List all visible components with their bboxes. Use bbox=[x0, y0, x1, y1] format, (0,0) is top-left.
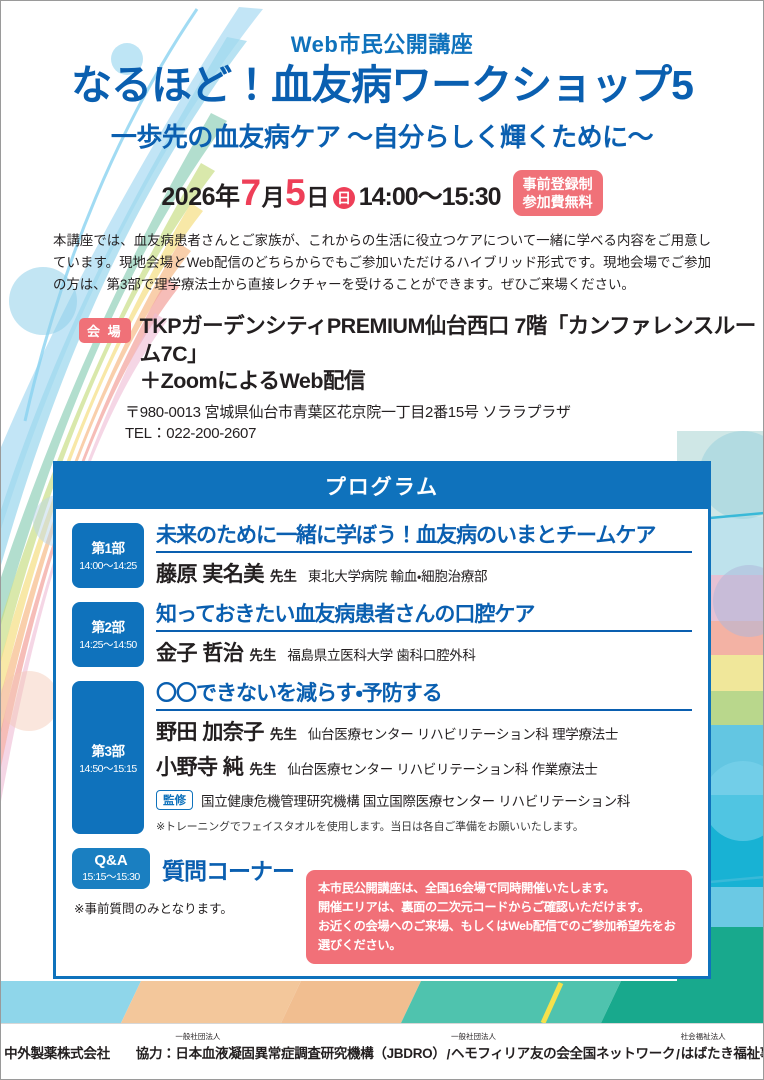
speaker-honorific: 先生 bbox=[249, 644, 276, 664]
session-content: 〇〇できないを減らす・予防する 野田 加奈子 先生 仙台医療センター リハビリテ… bbox=[156, 681, 692, 834]
session-time: 14:00～14:25 bbox=[79, 558, 137, 573]
flyer-header: Web市民公開講座 なるほど！血友病ワークショップ5 一歩先の血友病ケア ～自分… bbox=[1, 1, 763, 154]
speaker-honorific: 先生 bbox=[270, 565, 297, 585]
session-time: 14:50～15:15 bbox=[79, 761, 137, 776]
registration-badge-line1: 事前登録制 bbox=[523, 175, 593, 193]
venue-headline: 会 場 TKPガーデンシティPREMIUM仙台西口 7階「カンファレンスルーム7… bbox=[79, 313, 763, 396]
qa-time: 15:15～15:30 bbox=[72, 869, 150, 884]
notice-line-3: お近くの会場へのご来場、もしくはWeb配信でのご参加希望先をお選びください。 bbox=[318, 917, 680, 955]
session-content: 知っておきたい血友病患者さんの口腔ケア 金子 哲治 先生 福島県立医科大学 歯科… bbox=[156, 602, 692, 667]
qa-badge: Q&A 15:15～15:30 bbox=[72, 848, 150, 889]
program-panel: プログラム 第1部 14:00～14:25 未来のために一緒に学ぼう！血友病のい… bbox=[53, 461, 711, 979]
speaker-honorific: 先生 bbox=[249, 758, 276, 778]
qa-title: 質問コーナー bbox=[162, 852, 294, 886]
session-content: 未来のために一緒に学ぼう！血友病のいまとチームケア 藤原 実名美 先生 東北大学… bbox=[156, 523, 692, 588]
host-organization: 主催：中外製薬株式会社 bbox=[0, 1042, 110, 1062]
speaker-row: 野田 加奈子 先生 仙台医療センター リハビリテーション科 理学療法士 bbox=[156, 716, 692, 746]
venue-telephone: TEL：022-200-2607 bbox=[125, 423, 763, 444]
session-title: 〇〇できないを減らす・予防する bbox=[156, 681, 692, 711]
session-badge: 第3部 14:50～15:15 bbox=[72, 681, 144, 834]
speaker-name: 小野寺 純 bbox=[156, 751, 243, 781]
event-time: 14:00～15:30 bbox=[359, 177, 501, 213]
supervisor-organization: 国立健康危機管理研究機構 国立国際医療センター リハビリテーション科 bbox=[201, 790, 630, 810]
speaker-affiliation: 仙台医療センター リハビリテーション科 作業療法士 bbox=[287, 758, 597, 778]
venue-name-line2: ＋ZoomによるWeb配信 bbox=[140, 369, 365, 393]
date-year: 2026年 bbox=[161, 177, 239, 213]
session-part-label: 第3部 bbox=[91, 740, 124, 760]
flyer-page: Web市民公開講座 なるほど！血友病ワークショップ5 一歩先の血友病ケア ～自分… bbox=[0, 0, 764, 1080]
registration-badge: 事前登録制 参加費無料 bbox=[513, 170, 603, 216]
program-session: 第1部 14:00～14:25 未来のために一緒に学ぼう！血友病のいまとチームケ… bbox=[72, 523, 692, 588]
speaker-row: 小野寺 純 先生 仙台医療センター リハビリテーション科 作業療法士 bbox=[156, 751, 692, 781]
session-title: 未来のために一緒に学ぼう！血友病のいまとチームケア bbox=[156, 523, 692, 553]
session-part-label: 第2部 bbox=[91, 616, 124, 636]
date-day-number: 5 bbox=[284, 174, 306, 211]
program-body: 第1部 14:00～14:25 未来のために一緒に学ぼう！血友病のいまとチームケ… bbox=[56, 509, 708, 976]
speaker-row: 藤原 実名美 先生 東北大学病院 輸血・細胞治療部 bbox=[156, 558, 692, 588]
qa-note: ※事前質問のみとなります。 bbox=[74, 898, 294, 917]
speaker-affiliation: 福島県立医科大学 歯科口腔外科 bbox=[287, 644, 475, 664]
supervisor-badge: 監修 bbox=[156, 790, 193, 810]
session-badge: 第2部 14:25～14:50 bbox=[72, 602, 144, 667]
intro-paragraph: 本講座では、血友病患者さんとご家族が、これからの生活に役立つケアについて一緒に学… bbox=[53, 230, 711, 295]
org-name: ヘモフィリア友の会全国ネットワーク bbox=[451, 1046, 675, 1061]
page-title: なるほど！血友病ワークショップ5 bbox=[1, 63, 763, 109]
cooperating-org: 一般社団法人 ヘモフィリア友の会全国ネットワーク bbox=[451, 1042, 675, 1062]
qa-headline: Q&A 15:15～15:30 質問コーナー bbox=[72, 848, 294, 889]
program-session: 第2部 14:25～14:50 知っておきたい血友病患者さんの口腔ケア 金子 哲… bbox=[72, 602, 692, 667]
venue-address: 〒980-0013 宮城県仙台市青葉区花京院一丁目2番15号 ソララプラザ bbox=[125, 402, 763, 423]
org-type-ruby: 一般社団法人 bbox=[451, 1031, 496, 1042]
event-datetime: 2026年 7 月 5 日 日 14:00～15:30 bbox=[161, 174, 500, 213]
speaker-name: 野田 加奈子 bbox=[156, 716, 264, 746]
speaker-affiliation: 仙台医療センター リハビリテーション科 理学療法士 bbox=[308, 723, 618, 743]
notice-line-2: 開催エリアは、裏面の二次元コードからご確認いただけます。 bbox=[318, 898, 680, 917]
day-of-week-badge: 日 bbox=[333, 187, 355, 209]
speaker-name: 藤原 実名美 bbox=[156, 558, 264, 588]
session-part-label: 第1部 bbox=[91, 537, 124, 557]
speaker-affiliation: 東北大学病院 輸血・細胞治療部 bbox=[308, 565, 487, 585]
speaker-row: 金子 哲治 先生 福島県立医科大学 歯科口腔外科 bbox=[156, 637, 692, 667]
cooperation-label: 協力： bbox=[136, 1042, 176, 1062]
nationwide-notice: 本市民公開講座は、全国16会場で同時開催いたします。 開催エリアは、裏面の二次元… bbox=[306, 870, 692, 964]
page-subtitle: 一歩先の血友病ケア ～自分らしく輝くために～ bbox=[1, 117, 763, 154]
venue-block: 会 場 TKPガーデンシティPREMIUM仙台西口 7階「カンファレンスルーム7… bbox=[79, 313, 763, 444]
venue-name-line1: TKPガーデンシティPREMIUM仙台西口 7階「カンファレンスルーム7C」 bbox=[140, 314, 756, 366]
qa-section: Q&A 15:15～15:30 質問コーナー ※事前質問のみとなります。 本市民… bbox=[72, 848, 692, 964]
session-note: ※トレーニングでフェイスタオルを使用します。当日は各自ご準備をお願いいたします。 bbox=[156, 818, 692, 834]
session-title: 知っておきたい血友病患者さんの口腔ケア bbox=[156, 602, 692, 632]
event-date-row: 2026年 7 月 5 日 日 14:00～15:30 事前登録制 参加費無料 bbox=[1, 170, 763, 216]
org-type-ruby: 一般社団法人 bbox=[175, 1031, 220, 1042]
qa-badge-label: Q&A bbox=[72, 852, 150, 869]
kicker-text: Web市民公開講座 bbox=[1, 27, 763, 59]
registration-badge-line2: 参加費無料 bbox=[523, 193, 593, 211]
date-month-unit: 月 bbox=[262, 178, 285, 212]
cooperating-org: 社会福祉法人 はばたき福祉事業団 bbox=[681, 1042, 764, 1062]
supervisor-row: 監修 国立健康危機管理研究機構 国立国際医療センター リハビリテーション科 bbox=[156, 790, 692, 810]
program-heading: プログラム bbox=[56, 464, 708, 509]
flyer-footer: 主催：中外製薬株式会社 協力： 一般社団法人 日本血液凝固異常症調査研究機構（J… bbox=[1, 1023, 763, 1079]
speaker-name: 金子 哲治 bbox=[156, 637, 243, 667]
venue-label-badge: 会 場 bbox=[79, 318, 131, 343]
speaker-honorific: 先生 bbox=[270, 723, 297, 743]
org-name: 日本血液凝固異常症調査研究機構（JBDRO） bbox=[175, 1046, 445, 1061]
session-time: 14:25～14:50 bbox=[79, 637, 137, 652]
org-name: はばたき福祉事業団 bbox=[681, 1046, 764, 1061]
qa-left-column: Q&A 15:15～15:30 質問コーナー ※事前質問のみとなります。 bbox=[72, 848, 294, 917]
org-type-ruby: 社会福祉法人 bbox=[681, 1031, 726, 1042]
notice-line-1: 本市民公開講座は、全国16会場で同時開催いたします。 bbox=[318, 879, 680, 898]
session-badge: 第1部 14:00～14:25 bbox=[72, 523, 144, 588]
cooperating-org: 一般社団法人 日本血液凝固異常症調査研究機構（JBDRO） bbox=[175, 1042, 445, 1062]
venue-contact: 〒980-0013 宮城県仙台市青葉区花京院一丁目2番15号 ソララプラザ TE… bbox=[125, 402, 763, 445]
program-session: 第3部 14:50～15:15 〇〇できないを減らす・予防する 野田 加奈子 先… bbox=[72, 681, 692, 834]
cooperating-organizations: 協力： 一般社団法人 日本血液凝固異常症調査研究機構（JBDRO） / 一般社団… bbox=[136, 1042, 764, 1062]
venue-name: TKPガーデンシティPREMIUM仙台西口 7階「カンファレンスルーム7C」 ＋… bbox=[140, 313, 763, 396]
date-day-unit: 日 bbox=[306, 178, 329, 212]
date-month-number: 7 bbox=[240, 174, 262, 211]
